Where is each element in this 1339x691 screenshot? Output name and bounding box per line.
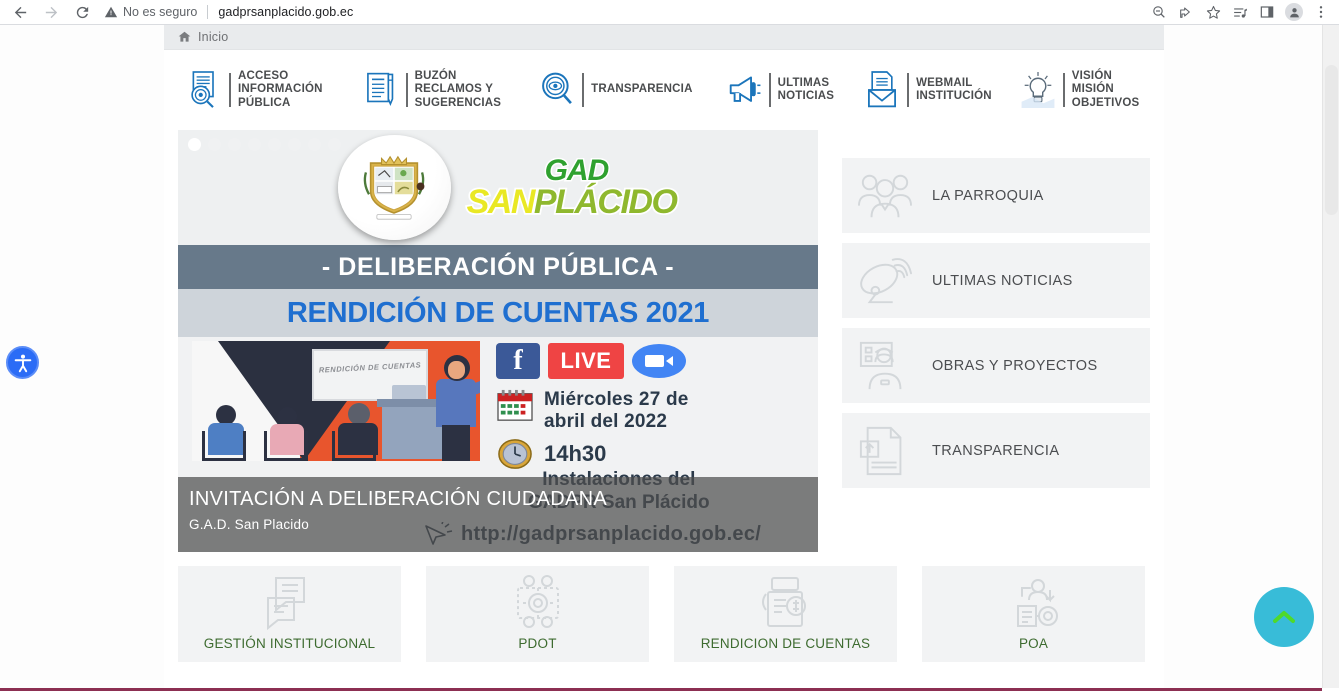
browser-toolbar: No es seguro gadprsanplacido.gob.ec [0, 0, 1339, 25]
gad-wordmark: GAD SANPLÁCIDO [467, 157, 677, 219]
sidebar-card-label: LA PARROQUIA [932, 188, 1044, 204]
quicklink-transparencia[interactable]: TRANSPARENCIA [539, 69, 692, 111]
warning-triangle-icon [104, 5, 118, 19]
people-group-icon [856, 169, 914, 223]
bottom-card-label: PDOT [518, 636, 556, 651]
back-arrow-icon [12, 4, 29, 21]
facebook-icon[interactable]: f [496, 343, 540, 379]
quicklink-webmail-institucion[interactable]: WEBMAIL INSTITUCIÓN [864, 69, 992, 111]
engineer-worker-icon [856, 339, 914, 393]
more-menu-button[interactable] [1308, 1, 1334, 23]
accessibility-person-icon [12, 352, 34, 374]
bottom-card-rendicion-de-cuentas[interactable]: RENDICION DE CUENTAS [674, 566, 897, 662]
hero-carousel[interactable]: GAD SANPLÁCIDO - DELIBERACIÓN PÚBLICA - … [178, 130, 818, 552]
carousel-dot[interactable] [288, 138, 301, 151]
live-badges-row: f LIVE [496, 343, 686, 379]
sidebar-card-transparencia[interactable]: TRANSPARENCIA [842, 413, 1150, 488]
carousel-dot[interactable] [268, 138, 281, 151]
sidebar-card-label: ULTIMAS NOTICIAS [932, 273, 1073, 289]
bottom-card-pdot[interactable]: PDOT [426, 566, 649, 662]
document-magnifier-icon [186, 69, 222, 111]
zoom-out-icon [1151, 4, 1167, 20]
scroll-to-top-button[interactable] [1254, 587, 1314, 647]
coat-of-arms-icon [338, 135, 451, 240]
forward-button[interactable] [37, 1, 65, 23]
quicklink-label: VISIÓN MISIÓN OBJETIVOS [1072, 70, 1140, 111]
share-button[interactable] [1173, 1, 1199, 23]
stage: GAD SANPLÁCIDO - DELIBERACIÓN PÚBLICA - … [164, 130, 1164, 560]
breadcrumb-item-inicio[interactable]: Inicio [198, 30, 228, 44]
bottom-card-label: GESTIÓN INSTITUCIONAL [204, 636, 375, 651]
back-button[interactable] [6, 1, 34, 23]
side-panel-icon [1259, 4, 1275, 20]
security-status[interactable]: No es seguro [104, 5, 197, 19]
profile-button[interactable] [1281, 1, 1307, 23]
reload-button[interactable] [68, 1, 96, 23]
carousel-dot[interactable] [328, 138, 341, 151]
quicklink-label: ULTIMAS NOTICIAS [778, 77, 835, 104]
accessibility-button[interactable] [6, 346, 39, 379]
wordmark-gad: GAD [545, 157, 677, 185]
headline-top-text: - DELIBERACIÓN PÚBLICA - [322, 253, 674, 282]
page-canvas: Inicio A [0, 25, 1322, 691]
quicklink-divider [229, 73, 231, 107]
quicklink-acceso-informacion-publica[interactable]: ACCESO INFORMACIÓN PÚBLICA [186, 69, 323, 111]
browser-toolbar-icons [1146, 1, 1339, 23]
carousel-dot[interactable] [208, 138, 221, 151]
event-time-text: 14h30 [544, 441, 606, 467]
carousel-dot[interactable] [188, 138, 201, 151]
quicklink-ultimas-noticias[interactable]: ULTIMAS NOTICIAS [726, 69, 835, 111]
quicklink-label: TRANSPARENCIA [591, 83, 692, 97]
quicklink-label: WEBMAIL INSTITUCIÓN [916, 77, 992, 104]
navigation-buttons [0, 1, 96, 23]
sidebar-card-label: OBRAS Y PROYECTOS [932, 358, 1098, 374]
bottom-card-label: RENDICION DE CUENTAS [701, 636, 871, 651]
event-time-row: 14h30 [496, 437, 606, 471]
content-column: Inicio A [164, 25, 1164, 691]
wordmark-placido: PLÁCIDO [534, 183, 677, 221]
profile-avatar-icon [1285, 3, 1303, 21]
zoom-out-button[interactable] [1146, 1, 1172, 23]
sidebar-card-ultimas-noticias[interactable]: ULTIMAS NOTICIAS [842, 243, 1150, 318]
quicklink-label: ACCESO INFORMACIÓN PÚBLICA [238, 70, 323, 111]
quicklink-buzon-reclamos-sugerencias[interactable]: BUZÓN RECLAMOS Y SUGERENCIAS [363, 69, 502, 111]
quicklink-divider [406, 73, 408, 107]
sidebar-card-label: TRANSPARENCIA [932, 443, 1059, 459]
more-menu-icon [1313, 4, 1329, 20]
banner-headline-main: RENDICIÓN DE CUENTAS 2021 [178, 289, 818, 337]
bookmark-star-icon [1205, 4, 1222, 21]
forward-arrow-icon [43, 4, 60, 21]
chevron-up-icon [1272, 608, 1296, 626]
event-date-text: Miércoles 27 de abril del 2022 [544, 389, 689, 433]
megaphone-icon [726, 69, 762, 111]
carousel-caption: INVITACIÓN A DELIBERACIÓN CIUDADANA G.A.… [178, 477, 818, 552]
sidebar-card-obras-y-proyectos[interactable]: OBRAS Y PROYECTOS [842, 328, 1150, 403]
clock-icon [496, 437, 534, 471]
bottom-card-poa[interactable]: POA [922, 566, 1145, 662]
scrollbar-thumb[interactable] [1325, 65, 1338, 215]
sidebar-cards: LA PARROQUIA [842, 130, 1150, 560]
wordmark-san: SAN [467, 183, 534, 221]
omnibox-divider [207, 5, 208, 19]
document-pen-icon [363, 69, 399, 111]
people-gear-icon [508, 574, 568, 632]
lightbulb-icon [1020, 69, 1056, 111]
url-text: gadprsanplacido.gob.ec [218, 5, 353, 19]
quicklink-divider [907, 73, 909, 107]
carousel-dot[interactable] [228, 138, 241, 151]
side-panel-button[interactable] [1254, 1, 1280, 23]
bookmark-button[interactable] [1200, 1, 1226, 23]
address-bar[interactable]: No es seguro gadprsanplacido.gob.ec [104, 2, 1138, 23]
satellite-dish-icon [856, 254, 914, 308]
page-scrollbar[interactable] [1322, 25, 1339, 688]
share-icon [1178, 4, 1194, 20]
quicklink-divider [1063, 73, 1065, 107]
calendar-icon [496, 389, 534, 423]
bottom-card-gestion-institucional[interactable]: GESTIÓN INSTITUCIONAL [178, 566, 401, 662]
event-date-row: Miércoles 27 de abril del 2022 [496, 389, 689, 433]
carousel-dot[interactable] [248, 138, 261, 151]
reload-icon [74, 4, 91, 21]
document-upload-icon [856, 424, 914, 478]
video-camera-icon [632, 344, 686, 378]
reading-list-icon [1232, 4, 1249, 21]
caption-subtitle: G.A.D. San Placido [189, 517, 818, 532]
banner-headline-top: - DELIBERACIÓN PÚBLICA - [178, 245, 818, 289]
bottom-card-label: POA [1019, 636, 1048, 651]
security-label: No es seguro [123, 5, 197, 19]
screen-text: RENDICIÓN DE CUENTAS [314, 359, 426, 376]
reading-list-button[interactable] [1227, 1, 1253, 23]
quicklinks-row: ACCESO INFORMACIÓN PÚBLICA BUZÓN R [164, 50, 1164, 130]
carousel-dot[interactable] [308, 138, 321, 151]
meeting-illustration: RENDICIÓN DE CUENTAS [192, 341, 480, 461]
quicklink-vision-mision-objetivos[interactable]: VISIÓN MISIÓN OBJETIVOS [1020, 69, 1140, 111]
breadcrumb: Inicio [164, 25, 1164, 50]
quicklink-label: BUZÓN RECLAMOS Y SUGERENCIAS [415, 70, 502, 111]
home-icon [177, 30, 192, 44]
live-badge: LIVE [548, 343, 624, 379]
caption-title: INVITACIÓN A DELIBERACIÓN CIUDADANA [189, 487, 818, 511]
page-viewport: Inicio A [0, 25, 1339, 691]
quicklink-divider [582, 73, 584, 107]
envelope-document-icon [864, 69, 900, 111]
chat-documents-icon [260, 574, 320, 632]
money-report-icon [756, 574, 816, 632]
wordmark-sanplacido: SANPLÁCIDO [467, 185, 677, 219]
sidebar-card-la-parroquia[interactable]: LA PARROQUIA [842, 158, 1150, 233]
headline-main-text: RENDICIÓN DE CUENTAS 2021 [287, 297, 709, 330]
carousel-dots [188, 138, 341, 151]
bottom-cards-row: GESTIÓN INSTITUCIONAL PDOT [164, 566, 1164, 662]
eye-magnifier-icon [539, 69, 575, 111]
quicklink-divider [769, 73, 771, 107]
person-gear-cycle-icon [1004, 574, 1064, 632]
